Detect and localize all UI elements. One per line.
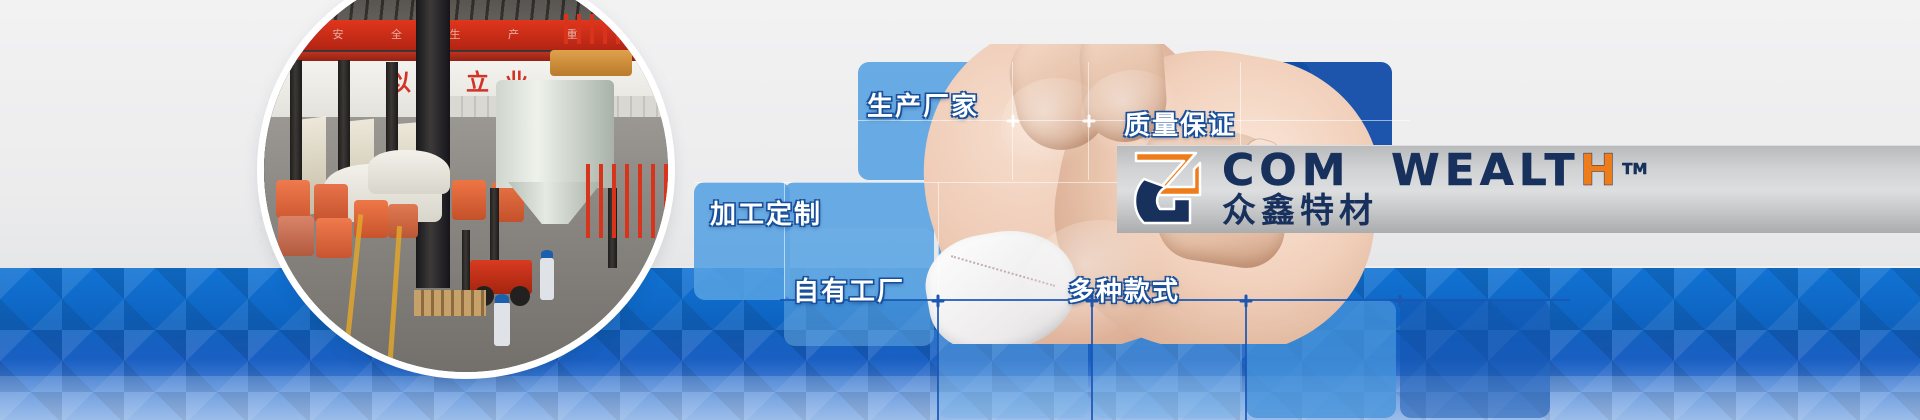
bulk-bag [388, 204, 418, 238]
grid-node [1006, 114, 1019, 127]
grid-line-blue [937, 300, 939, 420]
bulk-bag [278, 216, 314, 256]
tile-own-factory-label: 自有工厂 [793, 271, 905, 308]
logo-chinese-name: 众鑫特材 [1222, 192, 1621, 230]
worker-helmet [495, 294, 509, 303]
grid-node [1082, 114, 1095, 127]
tile-custom-label: 加工定制 [710, 194, 822, 231]
safety-rail [586, 164, 668, 238]
factory-photo: 安 全 生 产 重 以精立业 [264, 0, 668, 372]
forklift-mast [462, 230, 470, 296]
logo-en-wealt: WEALT [1391, 145, 1579, 196]
trademark-symbol: TM [1622, 146, 1647, 192]
worker [494, 302, 510, 346]
grid-line-blue [1245, 300, 1247, 420]
forklift-wheel [510, 286, 530, 306]
silo-leg [490, 188, 499, 270]
bulk-bag [316, 218, 352, 258]
grid-node [1393, 294, 1406, 307]
grid-line [938, 182, 939, 300]
tile-row3-bg-5 [1400, 300, 1550, 418]
tile-quality-label: 质量保证 [1124, 105, 1236, 142]
grid-node [931, 294, 944, 307]
bulk-bag [276, 180, 310, 218]
logo-english-name: COM WEALTH TM [1222, 148, 1621, 194]
tile-styles-label: 多种款式 [1068, 271, 1180, 308]
safety-rail [564, 14, 668, 44]
grid-node [1239, 294, 1252, 307]
worker-helmet [541, 250, 553, 258]
logo-en-com: COM [1222, 145, 1350, 196]
logo-text-block: COM WEALTH TM 众鑫特材 [1222, 148, 1621, 230]
grid-line-blue [1091, 300, 1093, 420]
platform [550, 50, 632, 76]
company-banner: 安 全 生 产 重 以精立业 [0, 0, 1920, 420]
logo-en-h-highlight: H [1580, 145, 1622, 196]
worker [540, 258, 554, 300]
tile-production-label: 生产厂家 [867, 86, 979, 123]
company-logo-mark-icon [1130, 149, 1208, 229]
bulk-bag [452, 180, 486, 220]
company-logo[interactable]: COM WEALTH TM 众鑫特材 [1130, 148, 1621, 230]
material-pile [368, 150, 450, 194]
bulk-bag [314, 184, 348, 222]
main-pillar [416, 0, 450, 288]
wooden-pallet [414, 290, 486, 316]
